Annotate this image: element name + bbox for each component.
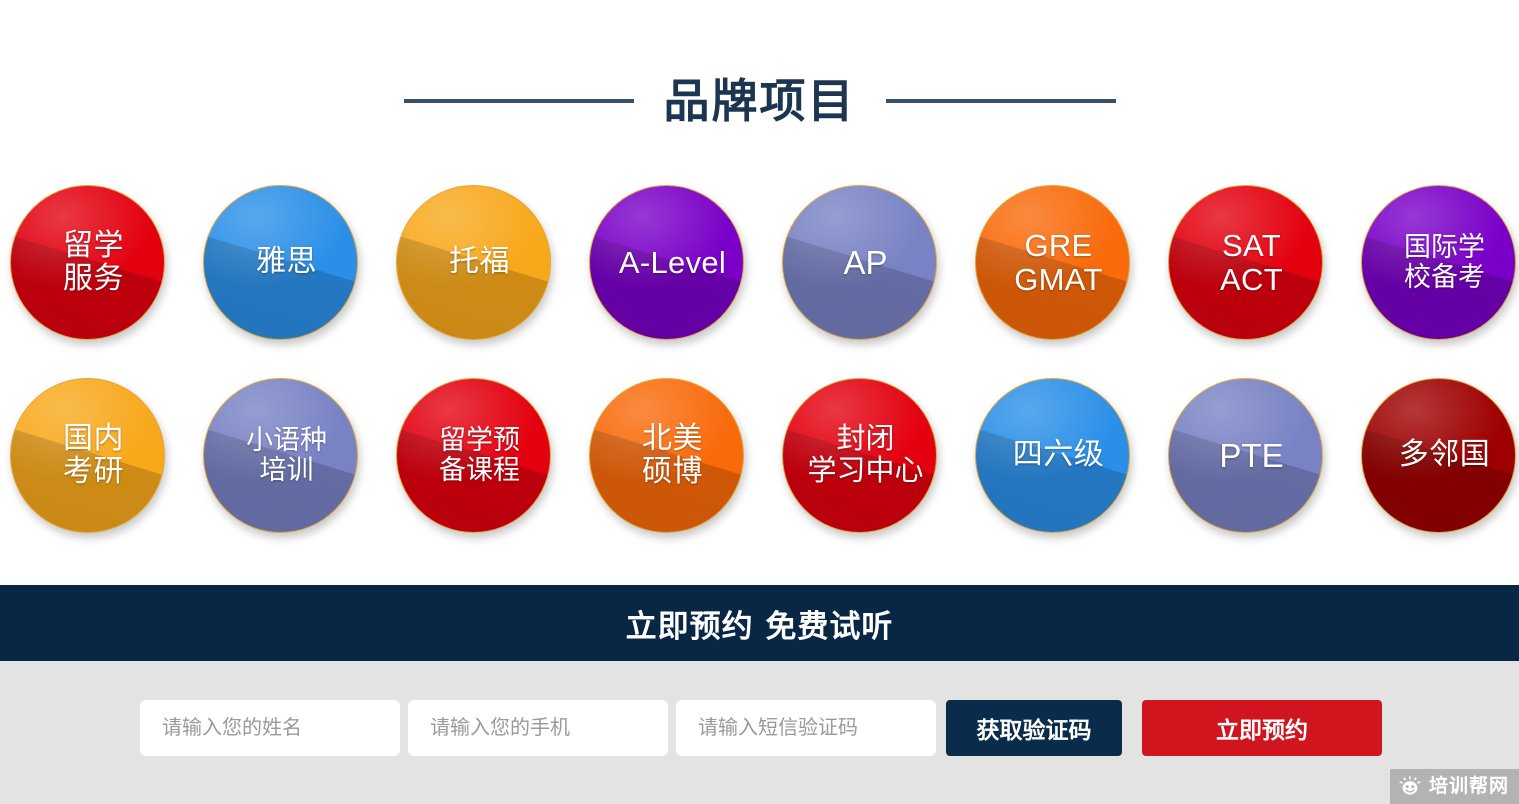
bubble-gloss <box>204 186 357 339</box>
program-bubble-label: 多邻国 <box>1399 439 1491 471</box>
program-label-line: GMAT <box>1014 263 1102 296</box>
name-input[interactable] <box>140 700 400 756</box>
bubble-gloss <box>783 186 936 339</box>
program-bubble-label: 国内考研 <box>63 423 124 488</box>
program-label-line: 国内 <box>63 423 124 455</box>
sms-code-input[interactable] <box>676 700 936 756</box>
program-row-2: 国内考研小语种培训留学预备课程北美硕博封闭学习中心四六级PTE多邻国 <box>10 378 1519 533</box>
program-label-line: SAT <box>1220 229 1283 262</box>
title-rule-left <box>404 99 634 103</box>
program-bubble-label: PTE <box>1219 438 1283 474</box>
program-label-line: 北美 <box>642 423 703 455</box>
section-heading: 品牌项目 <box>0 62 1519 140</box>
program-label-line: 托福 <box>449 246 510 278</box>
bubble-gloss <box>1362 379 1515 532</box>
bubble-gloss <box>204 379 357 532</box>
site-watermark: 培训帮网 <box>1390 769 1519 804</box>
program-bubble-gre-gmat[interactable]: GREGMAT <box>975 185 1130 340</box>
program-label-line: AP <box>843 245 887 281</box>
program-bubble-label: 四六级 <box>1013 439 1105 471</box>
bubble-gloss <box>976 186 1129 339</box>
phone-input[interactable] <box>408 700 668 756</box>
program-bubble-minor-language-training[interactable]: 小语种培训 <box>203 378 358 533</box>
watermark-label: 培训帮网 <box>1429 777 1509 796</box>
program-bubble-label: 北美硕博 <box>642 423 703 488</box>
program-bubble-label: 小语种培训 <box>246 426 327 484</box>
program-bubble-closed-study-center[interactable]: 封闭学习中心 <box>782 378 937 533</box>
program-bubble-sat-act[interactable]: SATACT <box>1168 185 1323 340</box>
submit-booking-button[interactable]: 立即预约 <box>1142 700 1382 756</box>
program-bubble-study-abroad-service[interactable]: 留学服务 <box>10 185 165 340</box>
program-label-line: 考研 <box>63 456 124 488</box>
program-bubble-label: A-Level <box>619 246 726 279</box>
booking-form: 获取验证码 立即预约 <box>140 700 1382 756</box>
get-verification-code-button[interactable]: 获取验证码 <box>946 700 1122 756</box>
program-bubble-pte[interactable]: PTE <box>1168 378 1323 533</box>
bubble-gloss <box>11 186 164 339</box>
program-bubble-label: 留学服务 <box>63 230 124 295</box>
bubble-gloss <box>11 379 164 532</box>
program-label-line: 留学预 <box>439 426 520 455</box>
program-label-line: GRE <box>1014 229 1102 262</box>
sun-face-icon <box>1398 775 1422 799</box>
program-bubble-label: 雅思 <box>256 246 317 278</box>
bubble-gloss <box>976 379 1129 532</box>
program-label-line: 留学 <box>63 230 124 262</box>
program-label-line: 备课程 <box>439 456 520 485</box>
bubble-gloss <box>1169 186 1322 339</box>
program-bubble-a-level[interactable]: A-Level <box>589 185 744 340</box>
program-label-line: 多邻国 <box>1399 439 1491 471</box>
bubble-gloss <box>590 379 743 532</box>
program-label-line: 小语种 <box>246 426 327 455</box>
program-bubble-label: 留学预备课程 <box>439 426 520 484</box>
program-label-line: 校备考 <box>1404 263 1485 292</box>
bubble-gloss <box>397 379 550 532</box>
booking-form-strip: 获取验证码 立即预约 <box>0 661 1519 804</box>
program-bubble-study-abroad-foundation-course[interactable]: 留学预备课程 <box>396 378 551 533</box>
program-label-line: 培训 <box>246 456 327 485</box>
page-title: 品牌项目 <box>664 78 856 124</box>
program-bubble-ielts[interactable]: 雅思 <box>203 185 358 340</box>
bubble-gloss <box>397 186 550 339</box>
program-bubble-ap[interactable]: AP <box>782 185 937 340</box>
program-bubble-duolingo[interactable]: 多邻国 <box>1361 378 1516 533</box>
bubble-gloss <box>590 186 743 339</box>
brand-programs-page: 品牌项目 留学服务雅思托福A-LevelAPGREGMATSATACT国际学校备… <box>0 0 1519 804</box>
program-label-line: 学习中心 <box>807 456 923 487</box>
cta-banner-text: 立即预约 免费试听 <box>626 601 894 646</box>
program-label-line: 四六级 <box>1013 439 1105 471</box>
program-bubble-label: GREGMAT <box>1014 229 1102 296</box>
bubble-gloss <box>1362 186 1515 339</box>
program-label-line: 封闭 <box>807 424 923 455</box>
program-bubble-toefl[interactable]: 托福 <box>396 185 551 340</box>
program-bubble-label: SATACT <box>1220 229 1283 296</box>
program-bubble-north-america-masters-phd[interactable]: 北美硕博 <box>589 378 744 533</box>
program-label-line: A-Level <box>619 246 726 279</box>
program-bubble-domestic-postgrad-exam[interactable]: 国内考研 <box>10 378 165 533</box>
program-bubble-label: 国际学校备考 <box>1404 233 1485 291</box>
program-bubble-international-school-prep[interactable]: 国际学校备考 <box>1361 185 1516 340</box>
program-label-line: 服务 <box>63 263 124 295</box>
program-grid: 留学服务雅思托福A-LevelAPGREGMATSATACT国际学校备考 国内考… <box>10 185 1519 533</box>
program-label-line: 国际学 <box>1404 233 1485 262</box>
program-bubble-cet-4-6[interactable]: 四六级 <box>975 378 1130 533</box>
program-label-line: 硕博 <box>642 456 703 488</box>
program-row-1: 留学服务雅思托福A-LevelAPGREGMATSATACT国际学校备考 <box>10 185 1519 340</box>
program-label-line: ACT <box>1220 263 1283 296</box>
cta-banner: 立即预约 免费试听 <box>0 585 1519 661</box>
bubble-gloss <box>783 379 936 532</box>
program-label-line: 雅思 <box>256 246 317 278</box>
bubble-gloss <box>1169 379 1322 532</box>
title-rule-right <box>886 99 1116 103</box>
program-label-line: PTE <box>1219 438 1283 474</box>
program-bubble-label: 托福 <box>449 246 510 278</box>
program-bubble-label: 封闭学习中心 <box>807 424 923 487</box>
program-bubble-label: AP <box>843 245 887 281</box>
